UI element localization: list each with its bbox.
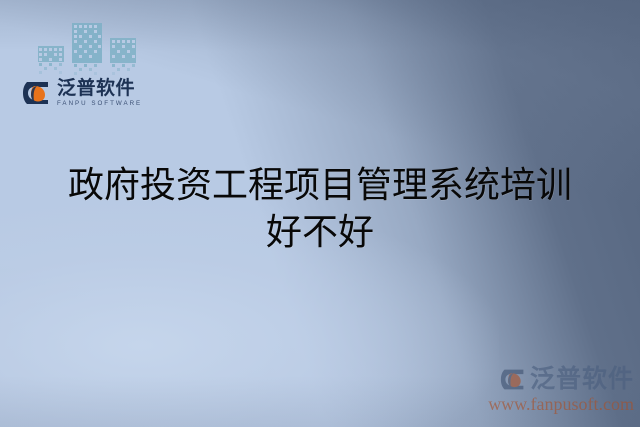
- watermark-company-name: 泛普软件: [530, 367, 634, 392]
- company-name-cn: 泛普软件: [57, 79, 142, 98]
- watermark-url: www.fanpusoft.com: [488, 394, 634, 415]
- company-logo[interactable]: 泛普软件 FANPU SOFTWARE: [22, 78, 172, 108]
- brand-block: 泛普软件 FANPU SOFTWARE: [22, 20, 172, 108]
- fanpu-swoosh-logo-icon: [500, 366, 527, 393]
- watermark-logo-row: 泛普软件: [488, 366, 634, 393]
- company-name-en: FANPU SOFTWARE: [57, 101, 142, 107]
- page-title-line-1: 政府投资工程项目管理系统培训: [0, 162, 640, 209]
- page-title: 政府投资工程项目管理系统培训 好不好: [0, 162, 640, 256]
- page-title-line-2: 好不好: [0, 209, 640, 256]
- pixel-skyline-icon: [36, 20, 146, 76]
- fanpu-swoosh-logo-icon: [22, 78, 52, 108]
- watermark: 泛普软件 www.fanpusoft.com: [488, 366, 634, 415]
- promo-banner: 泛普软件 FANPU SOFTWARE 政府投资工程项目管理系统培训 好不好 泛…: [0, 0, 640, 427]
